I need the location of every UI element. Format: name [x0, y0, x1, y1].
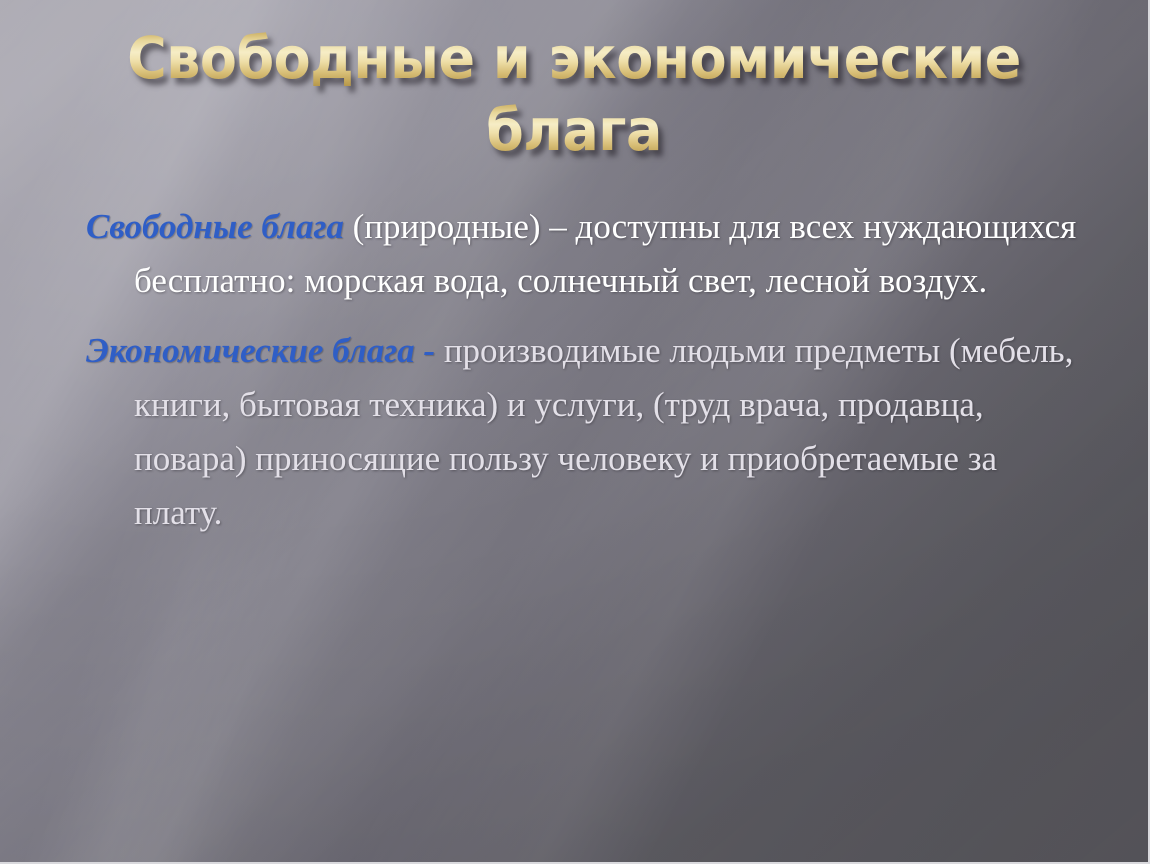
- slide-title-line-2: блага: [40, 94, 1108, 166]
- presentation-slide: Свободные и экономические блага Свободны…: [0, 0, 1150, 864]
- term-free-goods: Свободные блага: [86, 207, 344, 246]
- bullet-free-goods: Свободные блага (природные) – доступны д…: [86, 200, 1086, 308]
- slide-title: Свободные и экономические блага: [0, 22, 1148, 166]
- term-economic-goods: Экономические блага -: [86, 331, 435, 370]
- slide-title-line-1: Свободные и экономические: [40, 22, 1108, 94]
- slide-body: Свободные блага (природные) – доступны д…: [86, 200, 1086, 556]
- bullet-economic-goods: Экономические блага - производимые людьм…: [86, 324, 1086, 540]
